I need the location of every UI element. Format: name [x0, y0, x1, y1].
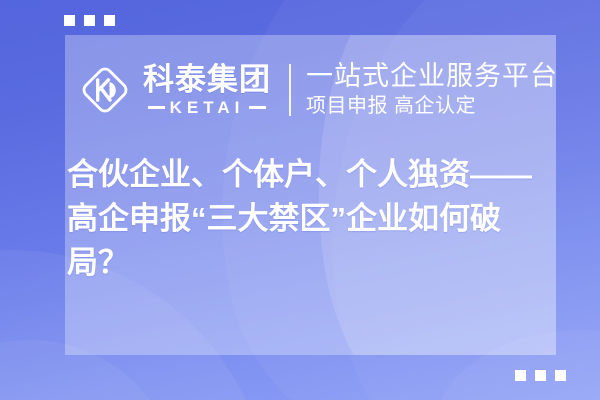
decorative-dots-top-left: [64, 15, 115, 26]
tagline-primary: 一站式企业服务平台: [306, 61, 556, 91]
content-panel: 科泰集团 KETAI 一站式企业服务平台 项目申报 高企认定 合伙企业、个体户、…: [65, 35, 556, 355]
ketai-diamond-kd-icon: [77, 62, 133, 118]
decorative-square-icon: [64, 15, 75, 26]
article-title: 合伙企业、个体户、个人独资——高企申报“三大禁区”企业如何破局？: [67, 153, 553, 285]
promo-banner: 科泰集团 KETAI 一站式企业服务平台 项目申报 高企认定 合伙企业、个体户、…: [0, 0, 600, 400]
brand-name-en: KETAI: [170, 99, 245, 116]
decorative-square-icon: [84, 15, 95, 26]
wordmark-rule-left: [148, 106, 165, 109]
brand-logo[interactable]: 科泰集团 KETAI: [77, 62, 271, 118]
brand-header: 科泰集团 KETAI 一站式企业服务平台 项目申报 高企认定: [65, 35, 556, 145]
brand-name-en-row: KETAI: [148, 99, 267, 116]
decorative-square-icon: [515, 370, 526, 381]
wordmark-rule-right: [249, 106, 266, 109]
brand-name-cn: 科泰集团: [143, 64, 271, 96]
header-divider: [289, 64, 291, 116]
tagline-secondary: 项目申报 高企认定: [306, 93, 556, 119]
brand-tagline: 一站式企业服务平台 项目申报 高企认定: [306, 61, 556, 119]
brand-logo-wordmark: 科泰集团 KETAI: [143, 64, 271, 116]
decorative-dots-bottom-right: [515, 370, 566, 381]
decorative-square-icon: [535, 370, 546, 381]
decorative-square-icon: [104, 15, 115, 26]
decorative-square-icon: [555, 370, 566, 381]
